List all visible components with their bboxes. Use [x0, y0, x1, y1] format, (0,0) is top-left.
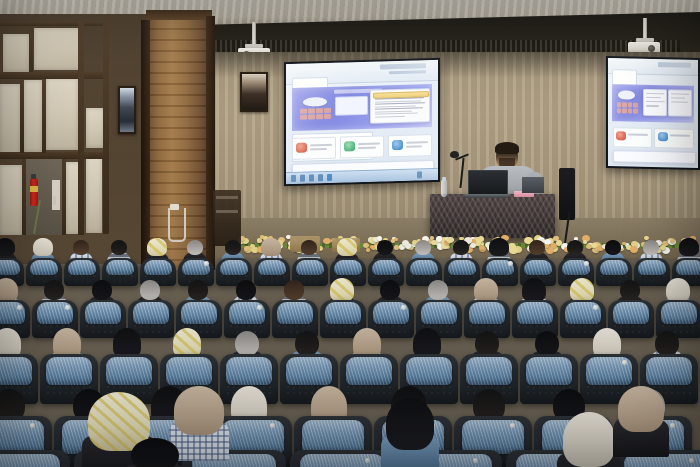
portrait-right-image: [242, 74, 266, 110]
projector-pole-icon: [252, 22, 256, 44]
hero-key: [324, 108, 331, 113]
card-text-line: [406, 146, 422, 148]
hero-card: [335, 95, 368, 115]
auditorium-seat-cushion: [526, 357, 572, 385]
hero-keypad-icon: [617, 103, 639, 114]
seat-button: [593, 305, 598, 310]
audience-member-head: [236, 280, 256, 300]
shelf-rail: [216, 210, 238, 213]
audience-member-head: [428, 280, 448, 300]
audience-member-headscarf: [570, 278, 594, 302]
auditorium-seat-cushion: [46, 357, 92, 385]
site-logo: [658, 62, 690, 67]
hero-key: [308, 108, 315, 113]
auditorium-seat-cushion: [448, 260, 477, 276]
audience-member-headscarf: [386, 398, 434, 450]
main-screen-content: [286, 60, 438, 184]
audience-member-headscarf: [474, 278, 498, 302]
audience-member-head: [187, 240, 203, 255]
bottle-cap: [442, 177, 446, 181]
wall-frame-mullion: [78, 20, 84, 235]
audience-member-head: [295, 331, 319, 357]
extinguisher-label: [30, 186, 38, 192]
seminar-hall-photo: A male presenter stands at a draped tabl…: [0, 0, 700, 467]
audience-member-headscarf: [147, 238, 166, 256]
projector-lens-icon: [648, 45, 655, 52]
audience-member-head: [643, 240, 659, 255]
audience-area: [0, 236, 700, 467]
taskbar-icon: [291, 175, 296, 182]
hero-key: [316, 108, 323, 113]
wall-frame-mullion: [20, 79, 24, 153]
wall-frame-rail: [0, 152, 105, 159]
fire-extinguisher-icon: [30, 178, 38, 206]
main-projection-screen: [284, 58, 440, 186]
auditorium-seat-cushion: [469, 302, 506, 323]
seat-button: [65, 305, 70, 310]
wall-switch-icon: [170, 204, 179, 210]
text-line: [646, 93, 664, 95]
wall-frame-mullion: [42, 79, 46, 153]
auditorium-seat-cushion: [600, 260, 629, 276]
auditorium-seat-cushion: [0, 260, 20, 276]
taskbar-icon: [318, 174, 323, 181]
auditorium-seat-cushion: [421, 302, 458, 323]
audience-member-head: [415, 240, 431, 255]
audience-member-head: [92, 280, 112, 300]
auditorium-seat-cushion: [296, 260, 325, 276]
hero-keypad-icon: [300, 108, 331, 120]
auditorium-seat-cushion: [325, 302, 362, 323]
audience-member-headscarf: [337, 238, 356, 256]
hero-key: [622, 103, 627, 108]
auditorium-seat-cushion: [638, 260, 667, 276]
audience-member-head: [380, 280, 400, 300]
auditorium-seat-cushion: [0, 454, 60, 467]
auditorium-seat-cushion: [372, 260, 401, 276]
card-blue: [388, 134, 432, 157]
hero-text-panel: [370, 88, 429, 124]
audience-member-head: [655, 331, 679, 357]
audience-member-head: [475, 331, 499, 357]
laptop-screen: [468, 170, 508, 197]
hero-key: [628, 108, 633, 113]
card-red: [292, 137, 336, 160]
loudspeaker: [559, 168, 575, 220]
auditorium-seat-cushion: [406, 357, 452, 385]
card-text-line: [310, 148, 327, 150]
wall-frame-mullion: [103, 14, 109, 234]
seat-button: [622, 360, 627, 365]
auditorium-seat-cushion: [286, 357, 332, 385]
audience-member-head: [567, 240, 583, 255]
audience-member-headscarf: [563, 412, 616, 467]
auditorium-seat-cushion: [277, 302, 314, 323]
hero-key: [633, 103, 638, 108]
text-line: [646, 97, 662, 99]
audience-member-head: [535, 331, 559, 357]
text-line: [375, 116, 405, 118]
extinguisher-nozzle: [31, 174, 36, 179]
text-line: [375, 108, 423, 110]
audience-member: [380, 398, 440, 467]
audience-member-head: [111, 240, 127, 255]
audience-member-headscarf: [489, 238, 508, 256]
hero-key: [300, 108, 307, 113]
card-text-line: [310, 144, 332, 147]
hero-key: [324, 114, 331, 119]
monitor-back: [522, 177, 544, 193]
hero-key: [316, 114, 323, 119]
text-line: [671, 97, 686, 99]
hero-text-panel: [643, 88, 667, 116]
taskbar-icon: [309, 174, 314, 181]
auditorium-seat-cushion: [144, 260, 173, 276]
audience-member-headscarf: [174, 386, 224, 435]
hero-key: [617, 108, 622, 113]
footer-panel: [613, 150, 696, 163]
acoustic-panel: [34, 28, 84, 70]
projector-pole-icon: [643, 18, 647, 38]
card-text-line: [628, 134, 647, 136]
door-panel: [52, 180, 60, 210]
acoustic-panel: [3, 34, 29, 72]
audience-member-head: [235, 331, 259, 357]
audience-member-headscarf: [261, 238, 280, 256]
hero-key: [633, 108, 638, 113]
audience-member-headscarf: [330, 278, 354, 302]
text-line: [375, 113, 419, 115]
taskbar-icon: [327, 174, 332, 181]
card-green: [340, 136, 384, 159]
hero-key: [300, 114, 307, 119]
auditorium-seat-cushion: [220, 260, 249, 276]
secondary-screen-content: [608, 58, 698, 168]
secondary-projection-screen: [606, 56, 700, 170]
auditorium-seat-cushion: [85, 302, 122, 323]
leaf-icon: [344, 141, 355, 151]
hero-text-panel: [668, 89, 692, 117]
wall-frame-mullion: [62, 159, 66, 235]
text-line: [671, 101, 688, 103]
acoustic-panel: [46, 78, 78, 150]
audience-member-headscarf: [618, 386, 664, 432]
globe-icon: [658, 132, 668, 141]
acoustic-panel: [86, 108, 104, 148]
card-row: [292, 134, 432, 159]
portrait-left: [118, 86, 136, 134]
audience-member-head: [131, 438, 179, 467]
audience-member-head: [605, 240, 621, 255]
hero-illustration-icon: [303, 96, 327, 106]
wall-frame-rail: [0, 72, 105, 79]
globe-icon: [392, 139, 403, 149]
auditorium-seat-cushion: [334, 260, 363, 276]
microphone-head-icon: [450, 151, 459, 158]
hero-key: [628, 103, 633, 108]
audience-member-head: [620, 280, 640, 300]
audience-member-headscarf: [666, 278, 690, 302]
acoustic-panel: [24, 80, 42, 152]
card-red: [613, 127, 652, 147]
audience-member-head: [188, 280, 208, 300]
text-line: [646, 101, 665, 103]
text-line: [646, 105, 659, 107]
text-line: [671, 93, 689, 95]
shield-icon: [296, 142, 307, 152]
shelf-rail: [216, 196, 238, 199]
hero-banner: [612, 84, 695, 122]
auditorium-seat-cushion: [661, 302, 698, 323]
card-blue: [654, 128, 693, 148]
taskbar-clock: [417, 171, 422, 178]
auditorium-seat-cushion: [613, 302, 650, 323]
hero-illustration-icon: [618, 90, 635, 100]
laptop-keyboard: [465, 194, 509, 198]
card-text-line: [670, 135, 689, 137]
auditorium-seat-cushion: [181, 302, 218, 323]
acoustic-panel: [86, 155, 102, 233]
portrait-right: [240, 72, 268, 112]
portrait-left-image: [120, 88, 134, 132]
water-bottle: [441, 180, 447, 197]
audience-member-head: [529, 240, 545, 255]
wall-frame-mullion: [29, 26, 33, 72]
hero-key: [308, 114, 315, 119]
card-text-line: [358, 147, 376, 149]
card-text-line: [406, 141, 428, 144]
seat-button: [17, 305, 22, 310]
card-row: [613, 127, 694, 148]
shield-icon: [616, 131, 626, 140]
auditorium-seat-cushion: [466, 357, 512, 385]
audience-member-headscarf: [0, 238, 15, 256]
speaker-hair: [495, 142, 519, 154]
auditorium-seat-cushion: [133, 302, 170, 323]
column-edge-shadow: [141, 20, 150, 270]
auditorium-seat-cushion: [226, 357, 272, 385]
auditorium-seat-cushion: [524, 260, 553, 276]
auditorium-seat-cushion: [346, 357, 392, 385]
auditorium-seat-cushion: [646, 357, 692, 385]
wall-frame-rail: [0, 22, 105, 26]
hero-banner: [292, 84, 432, 131]
audience-member-headscarf: [33, 238, 52, 256]
auditorium-seat-cushion: [30, 260, 59, 276]
audience-member: [612, 386, 670, 452]
auditorium-seat-cushion: [517, 302, 554, 323]
audience-member-headscarf: [0, 278, 18, 302]
text-line: [375, 102, 425, 104]
audience-member-headscarf: [522, 278, 546, 302]
audience-member-headscarf: [679, 238, 698, 256]
audience-member-head: [225, 240, 241, 255]
audience-member-head: [284, 280, 304, 300]
audience-member-head: [73, 240, 89, 255]
audience-member-head: [453, 240, 469, 255]
auditorium-seat-cushion: [258, 260, 287, 276]
auditorium-seat-cushion: [68, 260, 97, 276]
text-line: [375, 97, 424, 99]
auditorium-seat-cushion: [676, 260, 700, 276]
auditorium-seat-cushion: [410, 260, 439, 276]
taskbar-icon: [300, 175, 305, 182]
auditorium-seat-cushion: [166, 357, 212, 385]
hero-key: [617, 103, 622, 108]
audience-member-head: [301, 240, 317, 255]
acoustic-panel: [0, 165, 22, 235]
door-handle-icon: [53, 196, 56, 205]
auditorium-seat-cushion: [106, 357, 152, 385]
seat-button: [401, 305, 406, 310]
audience-member: [120, 434, 190, 467]
audience-member-head: [377, 240, 393, 255]
acoustic-panel: [0, 84, 20, 156]
seat-button: [257, 305, 262, 310]
auditorium-seat-cushion: [106, 260, 135, 276]
audience-member-head: [140, 280, 160, 300]
microphone-stand: [459, 158, 464, 188]
card-text-line: [358, 142, 380, 145]
auditorium-seat-cushion: [300, 454, 383, 467]
hero-key: [622, 108, 627, 113]
auditorium-seat-cushion: [0, 357, 32, 385]
audience-member-head: [44, 280, 64, 300]
